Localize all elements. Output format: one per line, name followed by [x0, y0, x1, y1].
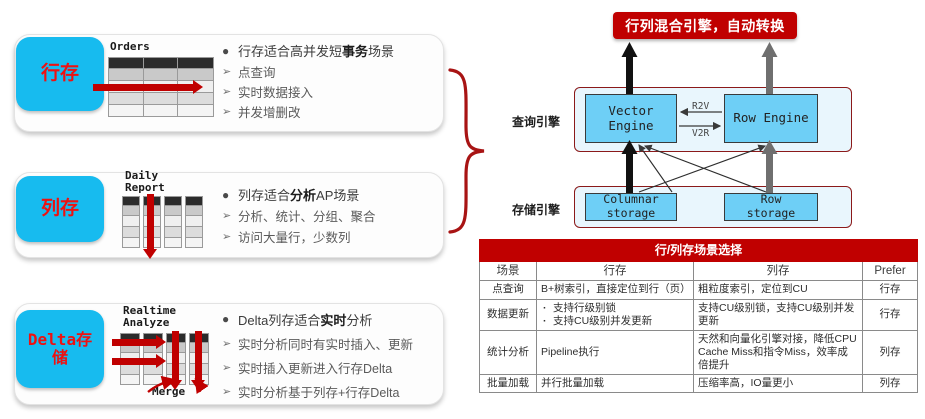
query-engine-label: 查询引擎 [512, 113, 560, 130]
col-header-row-store: 行存 [537, 262, 694, 281]
bullets-column-store: ● 列存适合分析AP场景 ➢ 分析、统计、分组、聚合 ➢ 访问大量行，少数列 [222, 184, 376, 247]
badge-row-store: 行存 [16, 37, 104, 111]
cell-col-store: 天然和向量化引擎对接，降低CPU Cache Miss和指令Miss，效率成倍提… [694, 330, 863, 374]
delta-insert-arrow-icon [112, 339, 157, 346]
table-title: 行/列存场景选择 [480, 240, 918, 262]
bullet-item: ➢ 并发增删改 [222, 101, 394, 121]
table-row: 批量加载 并行批量加载 压缩率高，IO量更小 列存 [480, 375, 918, 393]
bullets-delta-store: ● Delta列存适合实时分析 ➢ 实时分析同时有实时插入、更新 ➢ 实时插入更… [222, 307, 413, 403]
cell-prefer: 列存 [863, 330, 918, 374]
cell-prefer: 列存 [863, 375, 918, 393]
row-scan-arrow-icon [93, 84, 194, 91]
bullet-item: ➢ 访问大量行，少数列 [222, 226, 376, 247]
bullet-item: ➢ 分析、统计、分组、聚合 [222, 205, 376, 226]
cell-prefer: 行存 [863, 281, 918, 299]
cell-scene: 点查询 [480, 281, 537, 299]
mini-title-daily-report: Daily Report [125, 170, 165, 193]
bullet-chevron-icon: ➢ [222, 85, 238, 98]
scenario-comparison-table: 行/列存场景选择 场景 行存 列存 Prefer 点查询 B+树索引，直接定位到… [479, 239, 918, 393]
cell-scene: 数据更新 [480, 299, 537, 330]
row-engine-box: Row Engine [724, 94, 818, 143]
columnar-glyph [122, 196, 204, 248]
bullets-row-store: ● 行存适合高并发短事务场景 ➢ 点查询 ➢ 实时数据接入 ➢ 并发增删改 [222, 40, 394, 121]
badge-delta-store: Delta存 储 [16, 310, 104, 388]
cell-row-store: 并行批量加载 [537, 375, 694, 393]
bullet-item: ➢ 实时分析同时有实时插入、更新 [222, 331, 413, 355]
cell-col-store: 粗粒度索引，定位到CU [694, 281, 863, 299]
cell-scene: 批量加载 [480, 375, 537, 393]
bullet-item: ➢ 实时数据接入 [222, 81, 394, 101]
cell-row-store: 支持行级别锁 支持CU级别并发更新 [537, 299, 694, 330]
delta-update-arrow-icon [112, 358, 157, 365]
bullet-chevron-icon: ➢ [222, 65, 238, 78]
columnar-storage-box: Columnar storage [585, 193, 677, 221]
cell-scene: 统计分析 [480, 330, 537, 374]
cell-prefer: 行存 [863, 299, 918, 330]
delta-scan-arrow-icon-2 [195, 331, 202, 381]
badge-column-store: 列存 [16, 176, 104, 242]
mini-title-orders: Orders [110, 41, 150, 53]
cell-list-item: 支持行级别锁 [553, 302, 689, 315]
storage-engine-label: 存储引擎 [512, 201, 560, 218]
col-header-prefer: Prefer [863, 262, 918, 281]
v2r-label: V2R [692, 128, 709, 139]
bullet-item: ➢ 点查询 [222, 61, 394, 81]
bullet-item: ● 行存适合高并发短事务场景 [222, 40, 394, 61]
bullet-dot-icon: ● [222, 188, 238, 202]
table-row: 统计分析 Pipeline执行 天然和向量化引擎对接，降低CPU Cache M… [480, 330, 918, 374]
row-storage-box: Row storage [724, 193, 818, 221]
cell-col-store: 支持CU级别锁，支持CU级别并发更新 [694, 299, 863, 330]
bullet-item: ● Delta列存适合实时分析 [222, 307, 413, 331]
bullet-chevron-icon: ➢ [222, 337, 238, 350]
delta-scan-arrow-icon-1 [172, 331, 179, 381]
brace-connector-icon [446, 66, 490, 236]
column-scan-arrow-icon [147, 194, 154, 250]
hybrid-engine-banner: 行列混合引擎，自动转换 [613, 12, 797, 39]
bullet-chevron-icon: ➢ [222, 230, 238, 243]
bullet-chevron-icon: ➢ [222, 209, 238, 222]
bullet-item: ➢ 实时分析基于列存+行存Delta [222, 379, 413, 403]
col-header-scene: 场景 [480, 262, 537, 281]
table-title-row: 行/列存场景选择 [480, 240, 918, 262]
bullet-chevron-icon: ➢ [222, 385, 238, 398]
bullet-chevron-icon: ➢ [222, 361, 238, 374]
bullet-item: ● 列存适合分析AP场景 [222, 184, 376, 205]
table-row: 点查询 B+树索引，直接定位到行（页） 粗粒度索引，定位到CU 行存 [480, 281, 918, 299]
col-header-col-store: 列存 [694, 262, 863, 281]
table-row: 数据更新 支持行级别锁 支持CU级别并发更新 支持CU级别锁，支持CU级别并发更… [480, 299, 918, 330]
slide-canvas: 行存 Orders ● [0, 0, 925, 419]
vector-engine-box: Vector Engine [585, 94, 677, 143]
bullet-item: ➢ 实时插入更新进入行存Delta [222, 355, 413, 379]
cell-list-item: 支持CU级别并发更新 [553, 315, 689, 328]
table-header-row: 场景 行存 列存 Prefer [480, 262, 918, 281]
cell-row-store: B+树索引，直接定位到行（页） [537, 281, 694, 299]
cell-col-store: 压缩率高，IO量更小 [694, 375, 863, 393]
merge-label: Merge [152, 385, 185, 398]
bullet-dot-icon: ● [222, 44, 238, 58]
cell-row-store: Pipeline执行 [537, 330, 694, 374]
r2v-label: R2V [692, 101, 709, 112]
bullet-dot-icon: ● [222, 312, 238, 326]
bullet-chevron-icon: ➢ [222, 105, 238, 118]
mini-title-realtime-analyze: Realtime Analyze [123, 305, 176, 328]
